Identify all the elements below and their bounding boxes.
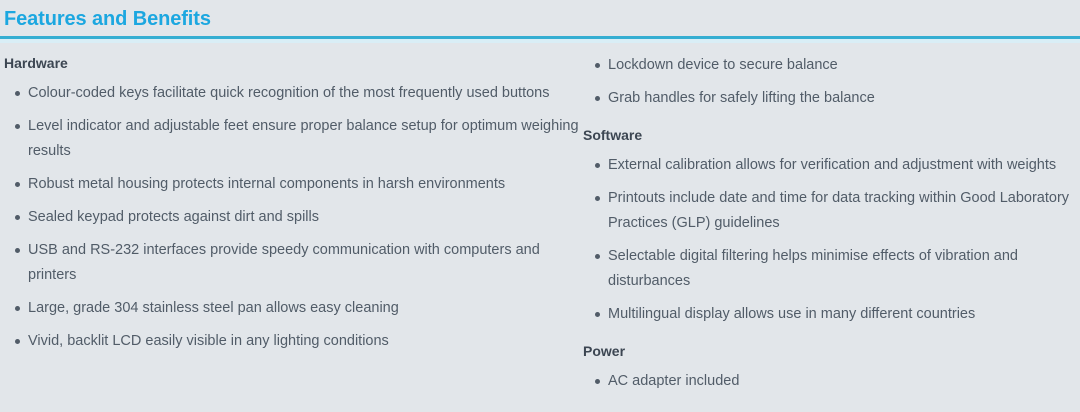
bullet-icon	[595, 379, 600, 384]
list-item-text: Sealed keypad protects against dirt and …	[28, 205, 580, 230]
bullet-icon	[595, 163, 600, 168]
power-feature-list: AC adapter included	[583, 369, 1080, 394]
group-hardware: Hardware Colour-coded keys facilitate qu…	[4, 53, 580, 354]
group-software: Software External calibration allows for…	[583, 125, 1080, 327]
list-item-text: Multilingual display allows use in many …	[608, 302, 1080, 327]
list-item-text: Printouts include date and time for data…	[608, 186, 1080, 236]
left-column: Hardware Colour-coded keys facilitate qu…	[0, 53, 580, 394]
bullet-icon	[595, 312, 600, 317]
bullet-icon	[15, 248, 20, 253]
group-heading-software: Software	[583, 125, 1080, 145]
list-item-text: Lockdown device to secure balance	[608, 53, 1080, 78]
bullet-icon	[595, 254, 600, 259]
bullet-icon	[15, 182, 20, 187]
list-item: Multilingual display allows use in many …	[583, 302, 1080, 327]
bullet-icon	[595, 96, 600, 101]
list-item-text: Selectable digital filtering helps minim…	[608, 244, 1080, 294]
page-title: Features and Benefits	[4, 7, 1080, 31]
list-item: USB and RS-232 interfaces provide speedy…	[4, 238, 580, 288]
list-item: Lockdown device to secure balance	[583, 53, 1080, 78]
list-item-text: Robust metal housing protects internal c…	[28, 172, 580, 197]
list-item: Sealed keypad protects against dirt and …	[4, 205, 580, 230]
list-item: Vivid, backlit LCD easily visible in any…	[4, 329, 580, 354]
bullet-icon	[595, 63, 600, 68]
bullet-icon	[15, 339, 20, 344]
list-item: Robust metal housing protects internal c…	[4, 172, 580, 197]
hardware-feature-list: Colour-coded keys facilitate quick recog…	[4, 81, 580, 354]
group-power: Power AC adapter included	[583, 341, 1080, 394]
bullet-icon	[15, 215, 20, 220]
features-and-benefits-page: Features and Benefits Hardware Colour-co…	[0, 0, 1080, 412]
list-item: Selectable digital filtering helps minim…	[583, 244, 1080, 294]
list-item: Colour-coded keys facilitate quick recog…	[4, 81, 580, 106]
section-header: Features and Benefits	[0, 0, 1080, 31]
list-item: Grab handles for safely lifting the bala…	[583, 86, 1080, 111]
list-item-text: Grab handles for safely lifting the bala…	[608, 86, 1080, 111]
list-item-text: AC adapter included	[608, 369, 1080, 394]
list-item-text: External calibration allows for verifica…	[608, 153, 1080, 178]
group-heading-power: Power	[583, 341, 1080, 361]
list-item-text: Colour-coded keys facilitate quick recog…	[28, 81, 580, 106]
software-feature-list: External calibration allows for verifica…	[583, 153, 1080, 327]
list-item: External calibration allows for verifica…	[583, 153, 1080, 178]
list-item-text: USB and RS-232 interfaces provide speedy…	[28, 238, 580, 288]
two-column-layout: Hardware Colour-coded keys facilitate qu…	[0, 43, 1080, 394]
bullet-icon	[15, 124, 20, 129]
list-item-text: Vivid, backlit LCD easily visible in any…	[28, 329, 580, 354]
list-item: Large, grade 304 stainless steel pan all…	[4, 296, 580, 321]
list-item: Printouts include date and time for data…	[583, 186, 1080, 236]
bullet-icon	[15, 306, 20, 311]
list-item-text: Large, grade 304 stainless steel pan all…	[28, 296, 580, 321]
hardware-feature-list-continued: Lockdown device to secure balance Grab h…	[583, 53, 1080, 111]
right-column: Lockdown device to secure balance Grab h…	[580, 53, 1080, 394]
list-item-text: Level indicator and adjustable feet ensu…	[28, 114, 580, 164]
bullet-icon	[595, 196, 600, 201]
bullet-icon	[15, 91, 20, 96]
group-heading-hardware: Hardware	[4, 53, 580, 73]
list-item: Level indicator and adjustable feet ensu…	[4, 114, 580, 164]
list-item: AC adapter included	[583, 369, 1080, 394]
